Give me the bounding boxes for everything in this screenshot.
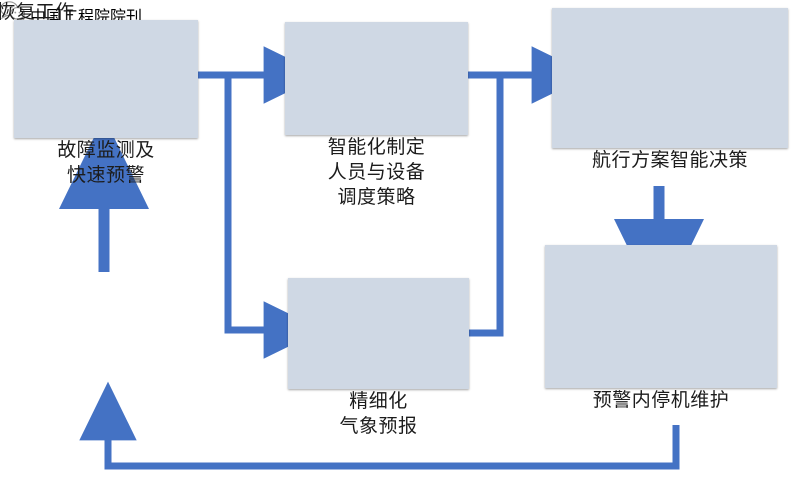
caption-line: 精细化 bbox=[339, 389, 417, 414]
node-intelligent-scheduling-image bbox=[285, 22, 468, 135]
caption-line: 机组恢复工作 bbox=[0, 0, 75, 25]
node-weather-forecast-caption: 精细化 气象预报 bbox=[339, 389, 417, 439]
node-maintenance-shutdown-caption: 预警内停机维护 bbox=[593, 388, 730, 413]
caption-line: 快速预警 bbox=[57, 163, 155, 188]
node-fault-monitoring-image bbox=[14, 20, 198, 138]
diagram-canvas: 故障监测及 快速预警 智能化制定 人员与设备 调度策略 bbox=[0, 0, 800, 489]
node-weather-forecast[interactable]: 精细化 气象预报 bbox=[288, 278, 469, 389]
node-fault-monitoring[interactable]: 故障监测及 快速预警 bbox=[14, 20, 198, 138]
caption-line: 智能化制定 bbox=[328, 135, 426, 160]
caption-line: 气象预报 bbox=[339, 414, 417, 439]
node-maintenance-shutdown[interactable]: 预警内停机维护 bbox=[545, 245, 777, 388]
connector-fault-branch-to-weather bbox=[228, 75, 272, 330]
node-fault-monitoring-caption: 故障监测及 快速预警 bbox=[57, 138, 155, 188]
node-maintenance-shutdown-image bbox=[545, 245, 777, 388]
node-unit-recovery-caption: 机组恢复工作 bbox=[0, 0, 75, 25]
caption-line: 预警内停机维护 bbox=[593, 388, 730, 413]
caption-line: 航行方案智能决策 bbox=[592, 148, 748, 173]
node-navigation-decision-image bbox=[552, 8, 788, 148]
caption-line: 人员与设备 bbox=[328, 160, 426, 185]
node-navigation-decision-caption: 航行方案智能决策 bbox=[592, 148, 748, 173]
node-weather-forecast-image bbox=[288, 278, 469, 389]
node-navigation-decision[interactable]: 航行方案智能决策 bbox=[552, 8, 788, 148]
connector-weather-to-navigation bbox=[469, 75, 500, 333]
caption-line: 故障监测及 bbox=[57, 138, 155, 163]
caption-line: 调度策略 bbox=[328, 185, 426, 210]
node-intelligent-scheduling[interactable]: 智能化制定 人员与设备 调度策略 bbox=[285, 22, 468, 135]
node-intelligent-scheduling-caption: 智能化制定 人员与设备 调度策略 bbox=[328, 135, 426, 210]
